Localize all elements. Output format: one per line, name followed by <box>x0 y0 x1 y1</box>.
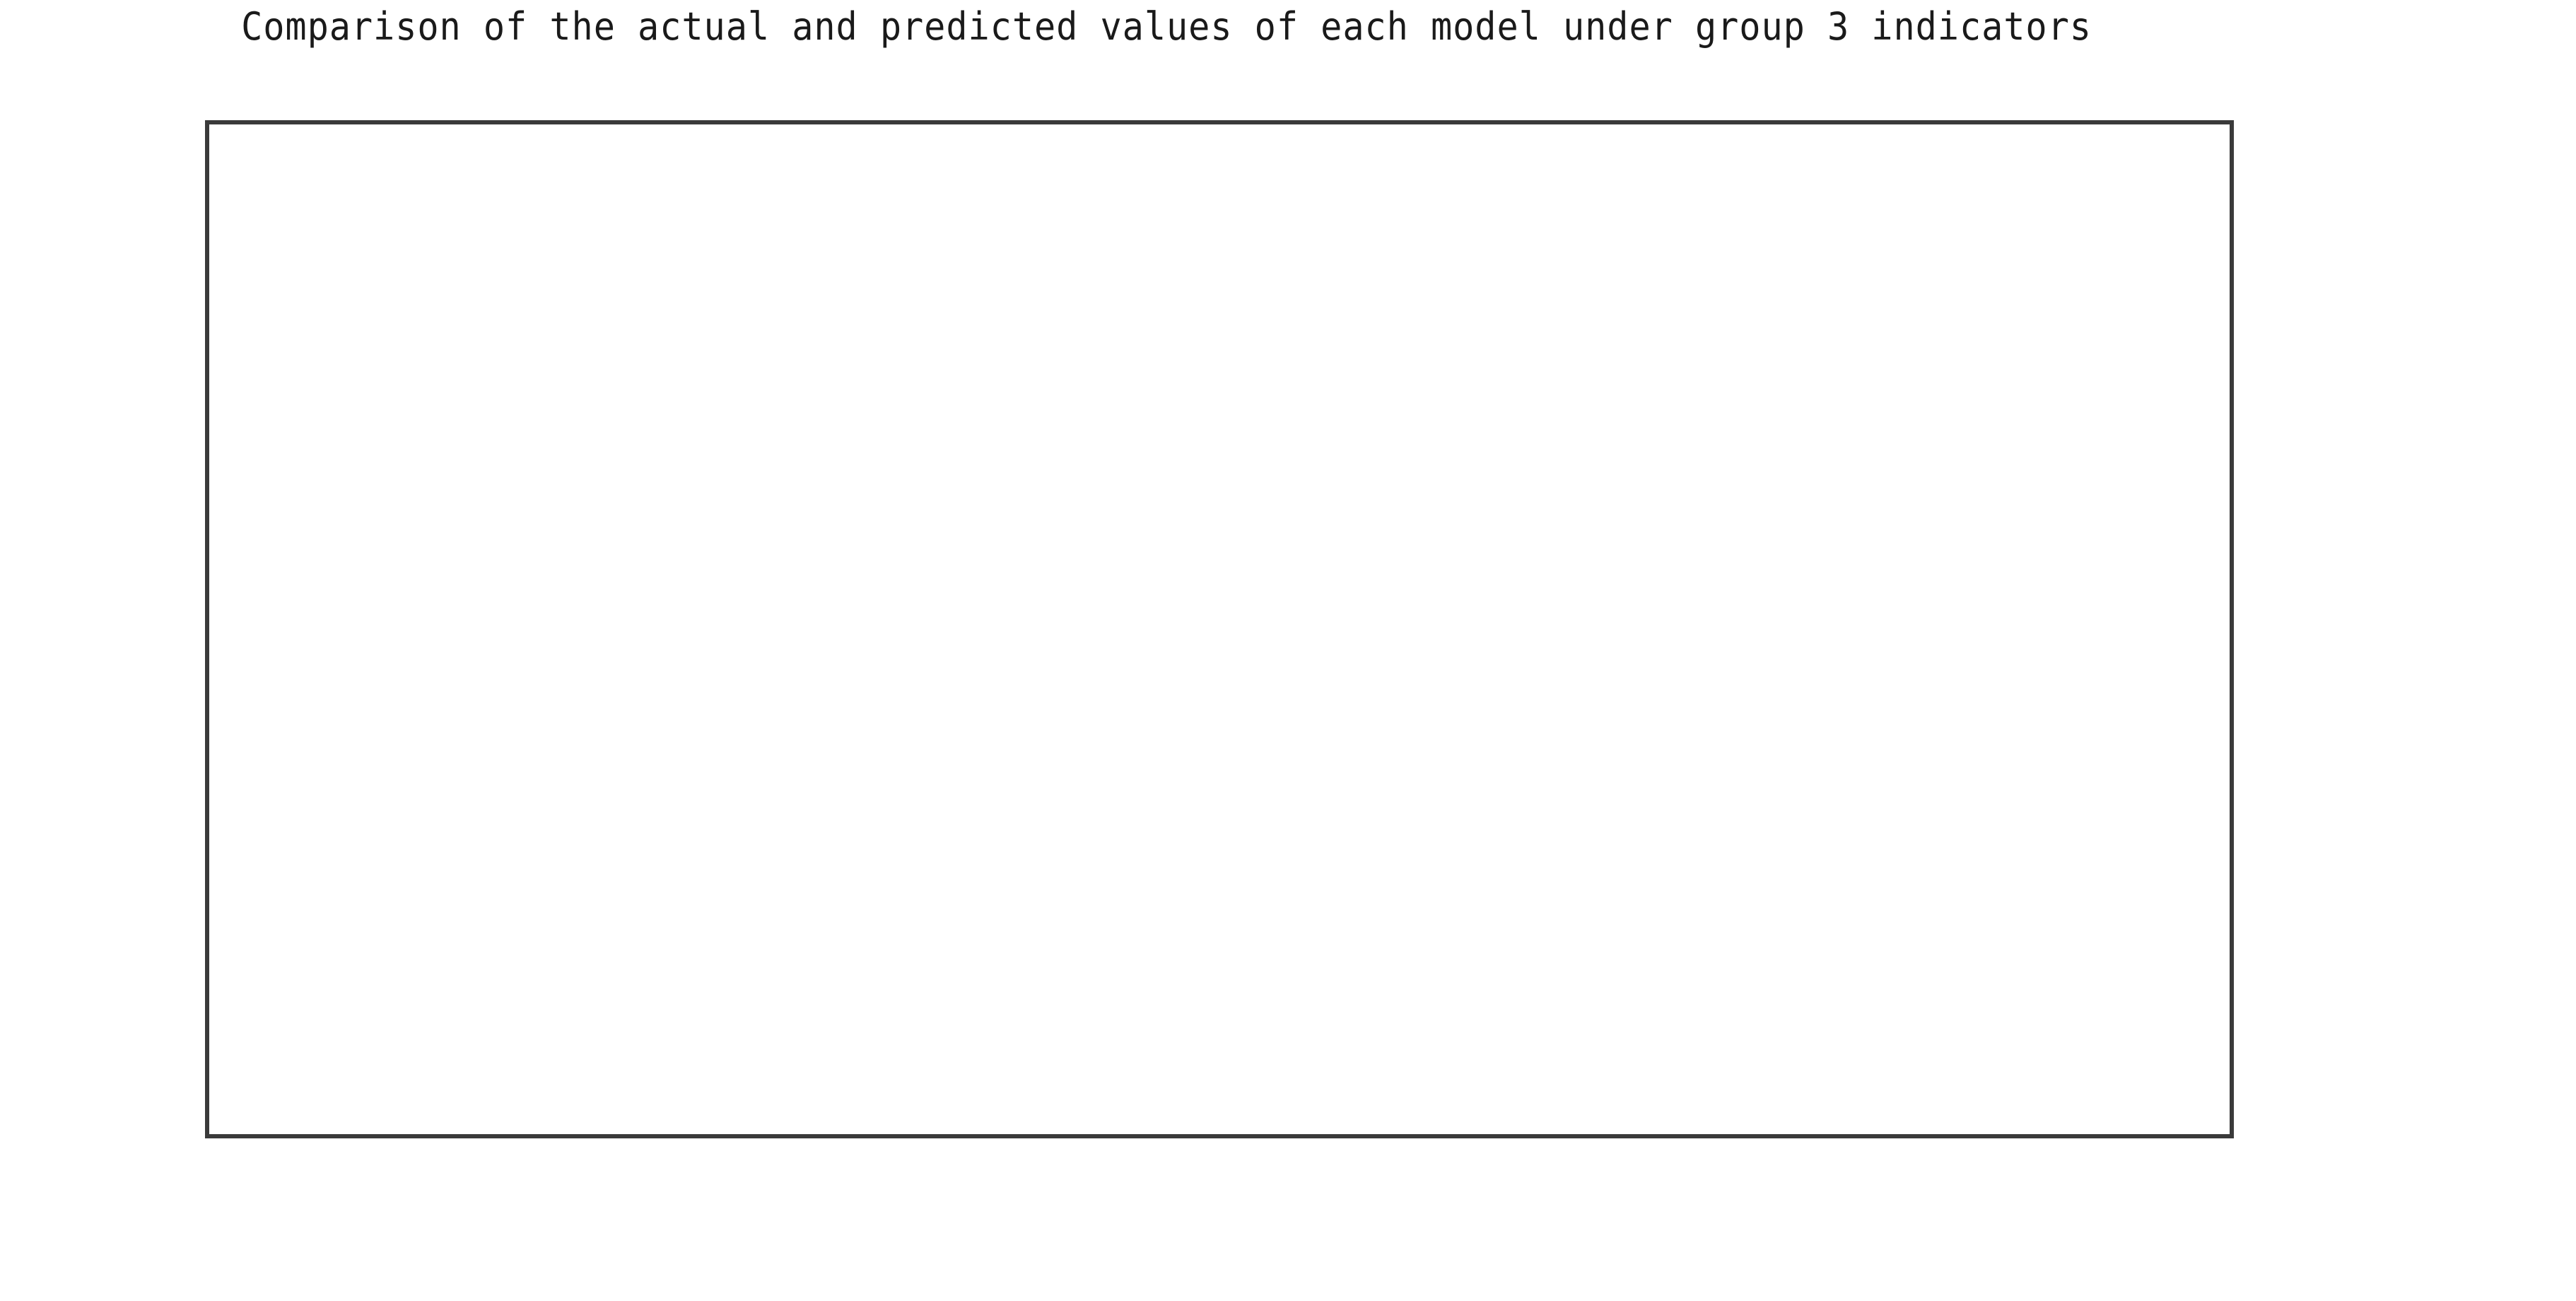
line-chart-canvas <box>209 124 2230 1134</box>
page-title: Comparison of the actual and predicted v… <box>82 4 2252 49</box>
plot-area <box>205 120 2234 1138</box>
figure-root: Comparison of the actual and predicted v… <box>0 0 2576 1301</box>
